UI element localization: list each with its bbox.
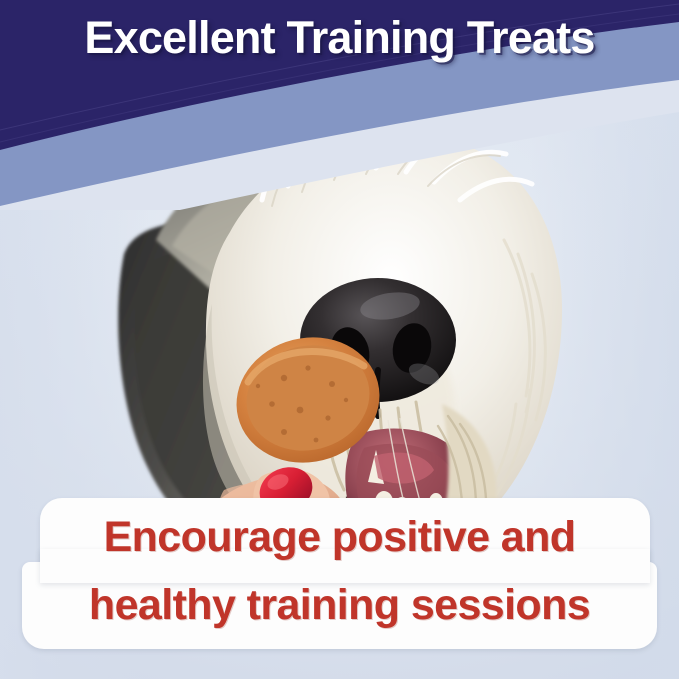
- caption-text: Encourage positive and healthy training …: [0, 503, 679, 639]
- caption-line-2: healthy training sessions: [0, 571, 679, 639]
- promo-image-card: Excellent Training Treats Encourage posi…: [0, 0, 679, 679]
- page-title: Excellent Training Treats: [0, 11, 679, 65]
- caption-plaque: Encourage positive and healthy training …: [0, 489, 679, 679]
- caption-line-1: Encourage positive and: [0, 503, 679, 571]
